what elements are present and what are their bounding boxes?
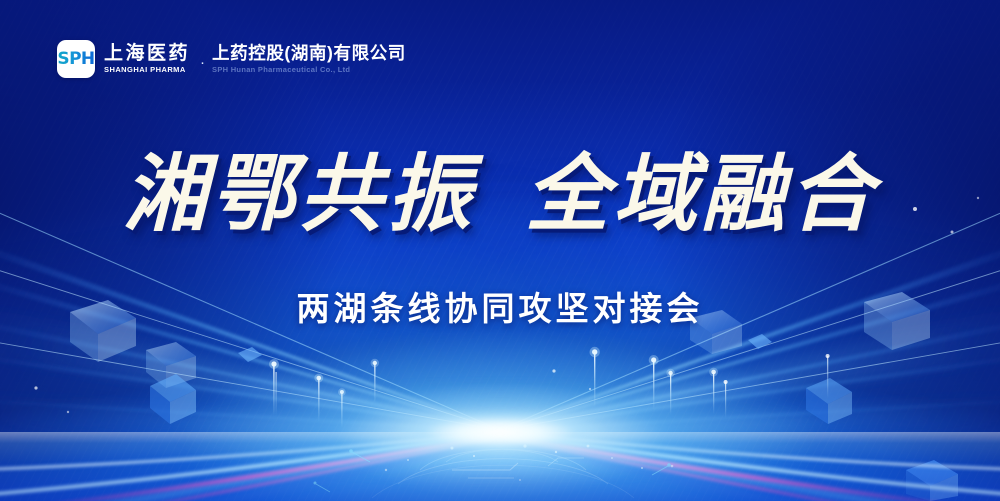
logo-separator-dot: · [200,55,205,70]
reflective-floor [0,432,1000,501]
main-title-wrap: 湘鄂共振全域融合 [0,152,1000,236]
sph-logo-text: SPH [57,51,94,68]
small-diamond-upper-right [748,334,772,349]
light-poles-right [590,347,830,418]
subtitle-wrap: 两湖条线协同攻坚对接会 [0,292,1000,325]
event-banner: SPH 上海医药 SHANGHAI PHARMA · 上药控股(湖南)有限公司 … [0,0,1000,501]
brand-name-block: 上海医药 SHANGHAI PHARMA [104,44,190,75]
brand-name-en: SHANGHAI PHARMA [104,65,190,74]
company-name-en: SPH Hunan Pharmaceutical Co., Ltd [212,65,406,74]
cube-left-lower [146,342,196,388]
company-name-cn: 上药控股(湖南)有限公司 [212,44,406,62]
main-title-part-two: 全域融合 [525,144,877,243]
small-diamond-upper-left [238,347,262,362]
diamond-right [806,378,852,424]
shooting-dot-trails [314,449,671,492]
floor-hud-lines [452,458,584,478]
floor-tech-arcs [372,449,634,498]
brand-name-cn: 上海医药 [104,44,190,64]
brand-logo-bar: SPH 上海医药 SHANGHAI PHARMA · 上药控股(湖南)有限公司 … [57,40,406,78]
sph-logo-badge: SPH [57,40,95,78]
main-title-part-one: 湘鄂共振 [123,144,475,243]
diamond-left [150,374,196,424]
main-title: 湘鄂共振全域融合 [123,152,877,236]
company-name-block: 上药控股(湖南)有限公司 SPH Hunan Pharmaceutical Co… [212,44,406,74]
light-poles-left [269,359,379,428]
event-subtitle: 两湖条线协同攻坚对接会 [297,292,704,325]
diamond-bottom-right [906,460,958,501]
